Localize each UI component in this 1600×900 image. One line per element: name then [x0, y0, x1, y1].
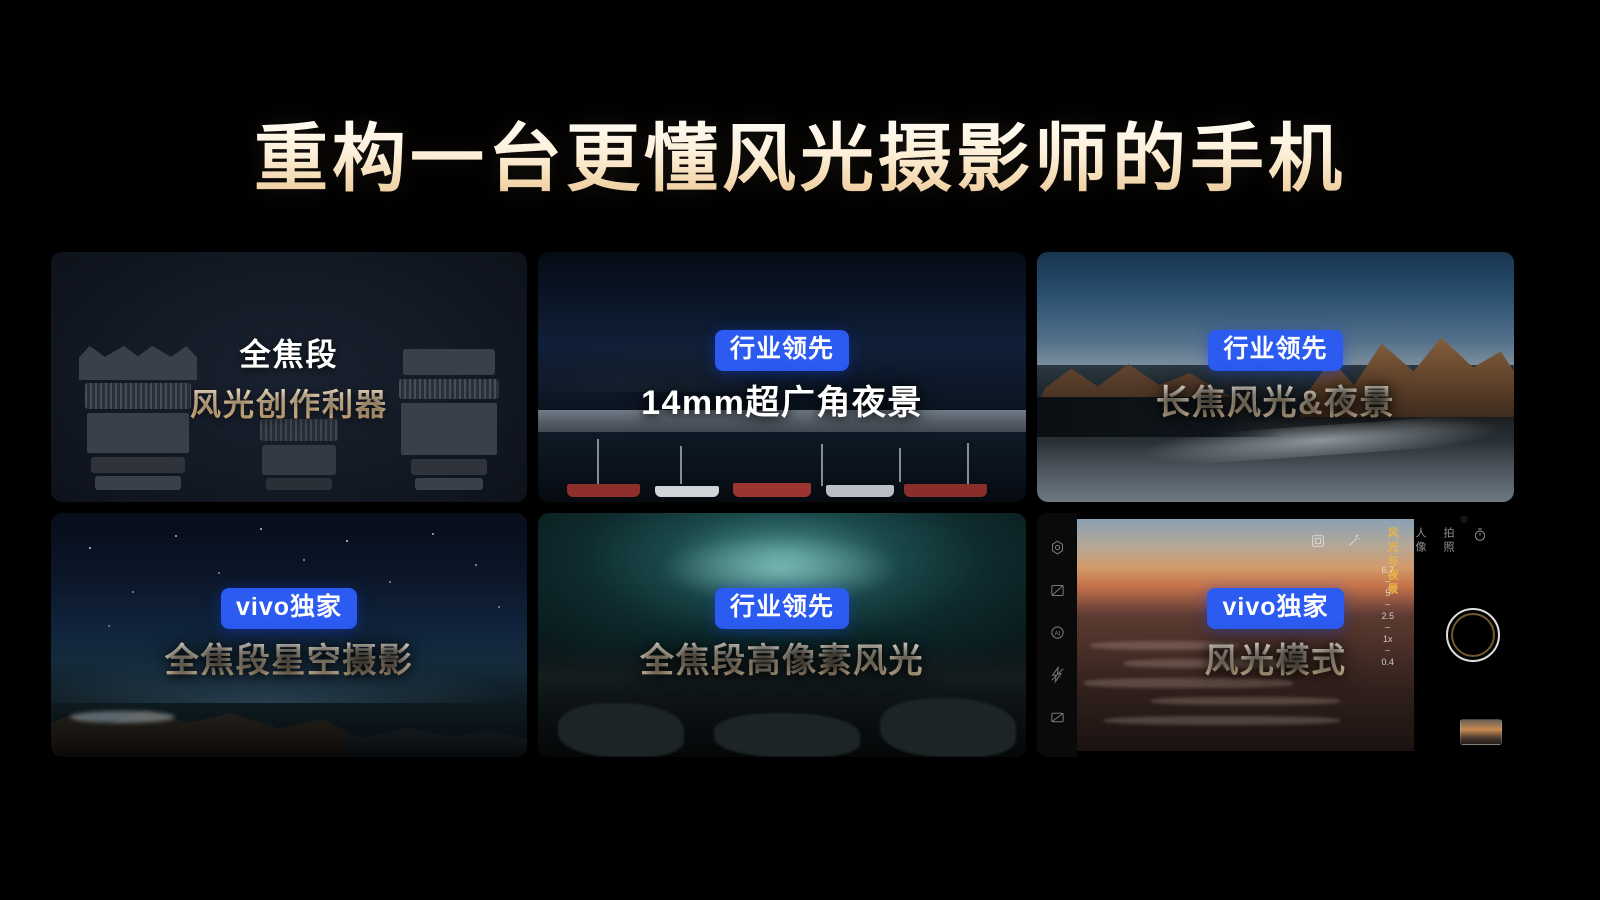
presentation-slide: 重构一台更懂风光摄影师的手机 [0, 0, 1600, 900]
mid-lens-graphic [256, 419, 342, 490]
card6-caption: 风光模式 [1205, 641, 1347, 682]
card2-caption: 14mm超广角夜景 [641, 383, 923, 424]
card1-text-block: 全焦段 风光创作利器 [51, 330, 527, 425]
aspect-ratio-icon[interactable] [1310, 533, 1326, 554]
ladder-tick [1385, 627, 1390, 628]
zoom-level[interactable]: 5 [1385, 588, 1390, 598]
feature-card-ultrawide-night[interactable]: 行业领先 14mm超广角夜景 [538, 252, 1026, 502]
card5-caption: 全焦段高像素风光 [640, 641, 924, 682]
status-badge: 行业领先 [715, 588, 849, 629]
status-badge: 行业领先 [1208, 330, 1342, 371]
card2-overlay: 行业领先 14mm超广角夜景 [538, 252, 1026, 502]
feature-card-all-focal-lengths[interactable]: 全焦段 风光创作利器 [51, 252, 527, 502]
card1-line1: 全焦段 [51, 330, 527, 375]
card3-overlay: 行业领先 长焦风光&夜景 [1037, 252, 1514, 502]
title-container: 重构一台更懂风光摄影师的手机 [0, 118, 1600, 201]
card4-caption: 全焦段星空摄影 [165, 641, 414, 682]
zoom-level[interactable]: 6.7 [1381, 565, 1394, 575]
feature-card-telephoto-landscape-night[interactable]: 行业领先 长焦风光&夜景 [1037, 252, 1514, 502]
zoom-level[interactable]: 0.4 [1381, 657, 1394, 667]
zoom-ladder[interactable]: 6.7 5 2.5 1x 0.4 [1381, 565, 1394, 667]
zoom-level[interactable]: 1x [1383, 634, 1393, 644]
viewfinder-top-icons [1310, 533, 1362, 554]
status-badge: 行业领先 [715, 330, 849, 371]
magic-wand-icon[interactable] [1346, 533, 1362, 554]
card4-overlay: vivo独家 全焦段星空摄影 [51, 513, 527, 757]
card1-line2: 风光创作利器 [51, 380, 527, 425]
feature-card-high-res-landscape[interactable]: 行业领先 全焦段高像素风光 [538, 513, 1026, 757]
ladder-tick [1385, 604, 1390, 605]
page-title: 重构一台更懂风光摄影师的手机 [254, 118, 1346, 201]
feature-card-landscape-mode[interactable]: AI [1037, 513, 1514, 757]
zoom-level[interactable]: 2.5 [1381, 611, 1394, 621]
status-badge: vivo独家 [1207, 588, 1343, 629]
card5-overlay: 行业领先 全焦段高像素风光 [538, 513, 1026, 757]
ladder-tick [1385, 581, 1390, 582]
ladder-tick [1385, 650, 1390, 651]
feature-card-starry-sky[interactable]: vivo独家 全焦段星空摄影 [51, 513, 527, 757]
card3-caption: 长焦风光&夜景 [1156, 383, 1395, 424]
status-badge: vivo独家 [221, 588, 357, 629]
card6-overlay: vivo独家 风光模式 [1037, 513, 1514, 757]
feature-card-grid: 全焦段 风光创作利器 行业领先 14mm超 [51, 252, 1514, 757]
